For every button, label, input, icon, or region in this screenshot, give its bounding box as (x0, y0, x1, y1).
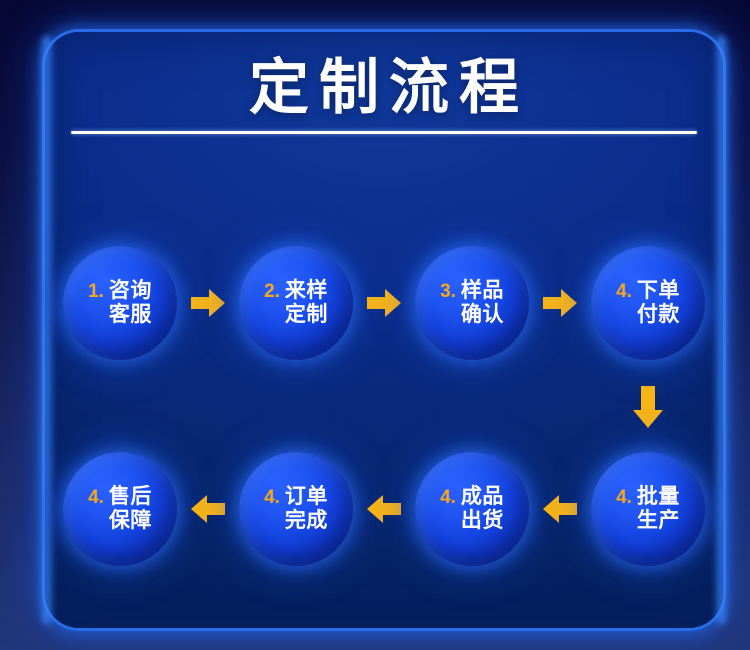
flow-step-2-label: 来样 定制 (285, 279, 328, 326)
flow-step-7-text: 4. 订单 完成 (264, 485, 328, 532)
flow-step-6-text: 4. 成品 出货 (440, 485, 504, 532)
arrow-right-icon-2 (365, 286, 403, 320)
flow-row-bottom: 4. 售后 保障 4. 订单 完成 4. 成品 出货 (63, 444, 705, 574)
flow-step-5-text: 4. 批量 生产 (616, 485, 680, 532)
flow-step-5-number: 4. (616, 487, 632, 508)
arrow-left-icon-1 (189, 492, 227, 526)
flow-step-8[interactable]: 4. 售后 保障 (63, 452, 177, 566)
flow-step-3-number: 3. (440, 281, 456, 302)
flow-step-3[interactable]: 3. 样品 确认 (415, 246, 529, 360)
flow-step-2-number: 2. (264, 281, 280, 302)
flow-step-7-label: 订单 完成 (285, 485, 328, 532)
flow-step-3-text: 3. 样品 确认 (440, 279, 504, 326)
flow-step-7-number: 4. (264, 487, 280, 508)
flow-step-5-label: 批量 生产 (637, 485, 680, 532)
flow-row-top: 1. 咨询 客服 2. 来样 定制 3. 样品 确认 (63, 238, 705, 368)
flow-step-8-number: 4. (88, 487, 104, 508)
page-title: 定制流程 (45, 56, 723, 119)
flow-step-4-text: 4. 下单 付款 (616, 279, 680, 326)
arrow-right-icon-3 (541, 286, 579, 320)
flow-step-6-label: 成品 出货 (461, 485, 504, 532)
flow-step-5[interactable]: 4. 批量 生产 (591, 452, 705, 566)
arrow-right-icon-1 (189, 286, 227, 320)
flow-step-8-text: 4. 售后 保障 (88, 485, 152, 532)
flow-step-1[interactable]: 1. 咨询 客服 (63, 246, 177, 360)
flow-step-3-label: 样品 确认 (461, 279, 504, 326)
flow-step-1-text: 1. 咨询 客服 (88, 279, 152, 326)
arrow-down-icon (631, 384, 665, 430)
flow-step-4-number: 4. (616, 281, 632, 302)
flow-step-1-number: 1. (88, 281, 104, 302)
flow-step-8-label: 售后 保障 (109, 485, 152, 532)
arrow-left-icon-3 (541, 492, 579, 526)
title-divider (71, 131, 697, 134)
arrow-left-icon-2 (365, 492, 403, 526)
flow-step-4-label: 下单 付款 (637, 279, 680, 326)
flow-step-6[interactable]: 4. 成品 出货 (415, 452, 529, 566)
flow-step-6-number: 4. (440, 487, 456, 508)
flow-step-2-text: 2. 来样 定制 (264, 279, 328, 326)
flow-panel: 定制流程 1. 咨询 客服 2. 来样 定制 (45, 32, 723, 628)
flow-step-1-label: 咨询 客服 (109, 279, 152, 326)
flow-step-4[interactable]: 4. 下单 付款 (591, 246, 705, 360)
flow-step-7[interactable]: 4. 订单 完成 (239, 452, 353, 566)
flow-step-2[interactable]: 2. 来样 定制 (239, 246, 353, 360)
flowchart-canvas: 定制流程 1. 咨询 客服 2. 来样 定制 (0, 0, 750, 650)
